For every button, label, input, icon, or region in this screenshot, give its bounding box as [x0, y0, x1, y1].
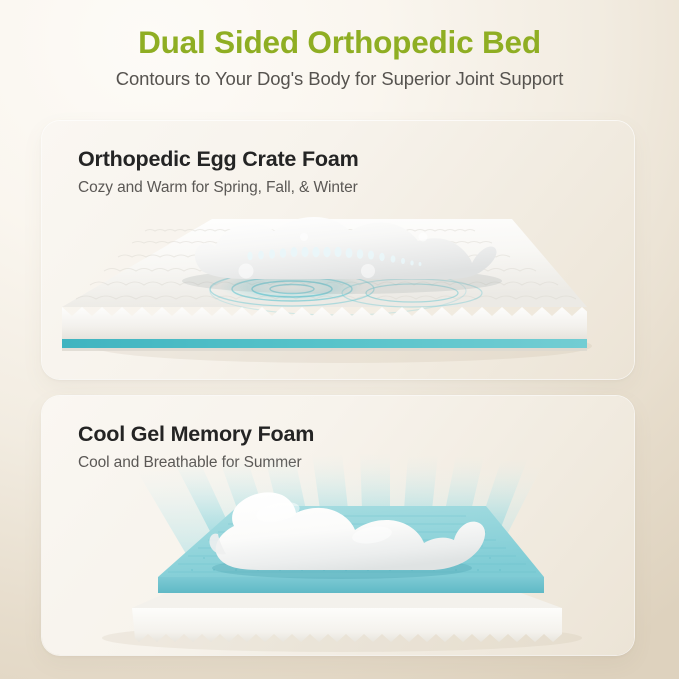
foam-top-surface [62, 219, 587, 307]
feature-card-cool-gel-memory-foam: Cool Gel Memory Foam Cool and Breathable… [42, 396, 634, 655]
card-subtitle: Cozy and Warm for Spring, Fall, & Winter [78, 179, 358, 197]
promo-graphic: Dual Sided Orthopedic Bed Contours to Yo… [0, 0, 679, 679]
gel-perforation-dots [191, 545, 501, 571]
cooling-ray [172, 458, 248, 566]
gel-foam-top [158, 506, 544, 577]
dog-ear [209, 534, 226, 555]
dog-spine-dots [247, 247, 421, 266]
cooling-ray [400, 454, 438, 566]
cooling-ray [312, 453, 354, 566]
dog-body [216, 492, 485, 570]
teal-base-strip [62, 339, 587, 348]
dog-silhouette [209, 492, 485, 579]
dog-silhouette [182, 217, 502, 294]
dog-body [195, 217, 497, 279]
cooling-ray [360, 453, 390, 566]
foam-front-zigzag [62, 307, 587, 339]
base-top-hidden [132, 586, 562, 608]
page-title: Dual Sided Orthopedic Bed [0, 24, 679, 61]
header-block: Dual Sided Orthopedic Bed Contours to Yo… [0, 24, 679, 90]
cooling-ray [466, 458, 528, 566]
card-title: Cool Gel Memory Foam [78, 422, 314, 447]
gel-foam-side [158, 577, 544, 593]
foam-shadow [92, 329, 592, 363]
card-title: Orthopedic Egg Crate Foam [78, 147, 359, 172]
egg-crate-texture [76, 230, 576, 300]
dog-joint-highlights [239, 233, 428, 279]
foam-shadow [102, 624, 582, 652]
base-front-zigzag [132, 608, 562, 642]
base-underside [62, 348, 587, 351]
cooling-ray [218, 456, 282, 566]
teal-ripple-waves [210, 267, 482, 315]
card-subtitle: Cool and Breathable for Summer [78, 454, 302, 472]
feature-card-egg-crate-foam: Orthopedic Egg Crate Foam Cozy and Warm … [42, 121, 634, 379]
gel-perforation-texture [168, 516, 536, 572]
page-subtitle: Contours to Your Dog's Body for Superior… [0, 68, 679, 90]
dog-highlights [255, 499, 393, 546]
cooling-ray [434, 456, 484, 566]
